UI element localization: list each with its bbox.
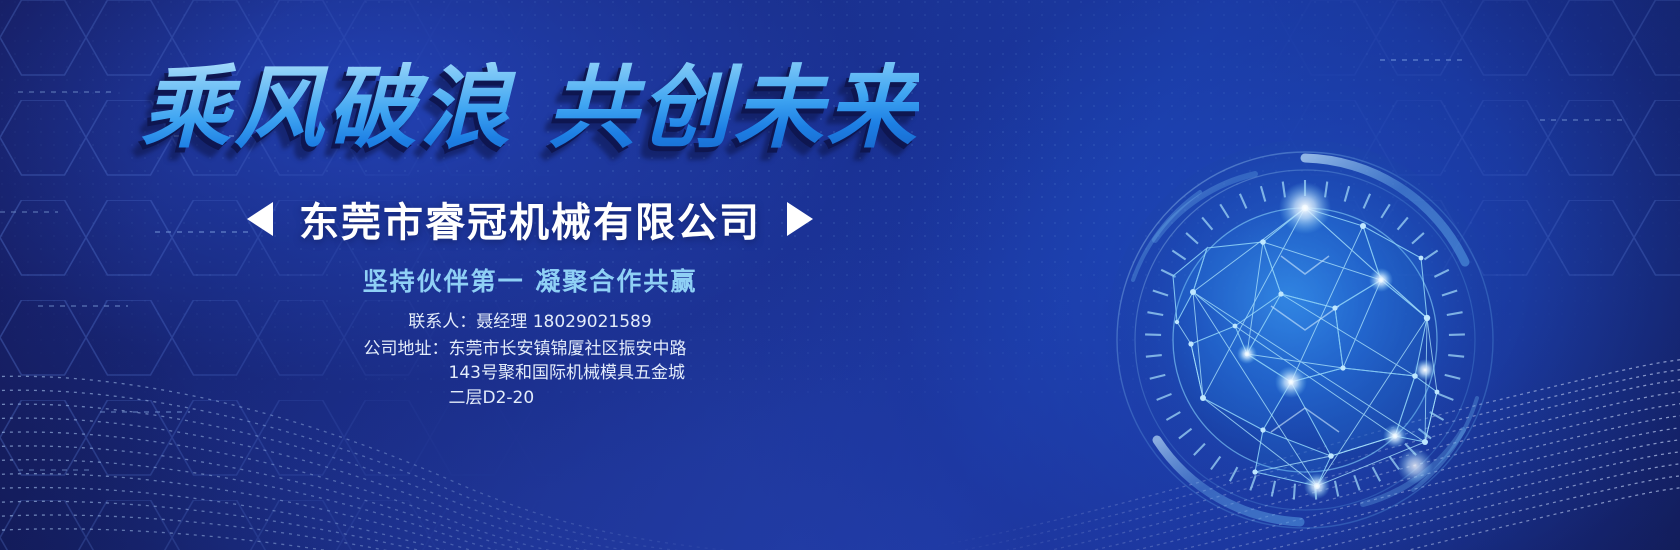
address-label: 公司地址： bbox=[364, 337, 449, 411]
contact-person-line: 联系人：聂经理 18029021589 bbox=[0, 310, 1060, 335]
banner-text-content: 乘风破浪 共创未来 东莞市睿冠机械有限公司 坚持伙伴第一 凝聚合作共赢 联系人：… bbox=[0, 0, 1060, 550]
contact-block: 联系人：聂经理 18029021589 公司地址： 东莞市长安镇锦厦社区振安中路… bbox=[0, 310, 1060, 411]
address-value: 东莞市长安镇锦厦社区振安中路143号聚和国际机械模具五金城二层D2-20 bbox=[449, 337, 697, 411]
right-triangle-icon bbox=[787, 202, 813, 236]
address-line: 公司地址： 东莞市长安镇锦厦社区振安中路143号聚和国际机械模具五金城二层D2-… bbox=[0, 337, 1060, 411]
main-title: 乘风破浪 共创未来 bbox=[141, 62, 919, 157]
slogan-text: 坚持伙伴第一 凝聚合作共赢 bbox=[0, 262, 1060, 298]
promotional-banner: 乘风破浪 共创未来 东莞市睿冠机械有限公司 坚持伙伴第一 凝聚合作共赢 联系人：… bbox=[0, 0, 1680, 550]
main-title-wrap: 乘风破浪 共创未来 bbox=[0, 62, 1060, 157]
polygonal-globe-network bbox=[1095, 130, 1515, 550]
company-name-row: 东莞市睿冠机械有限公司 bbox=[0, 190, 1060, 248]
left-triangle-icon bbox=[247, 202, 273, 236]
company-name: 东莞市睿冠机械有限公司 bbox=[299, 190, 761, 248]
